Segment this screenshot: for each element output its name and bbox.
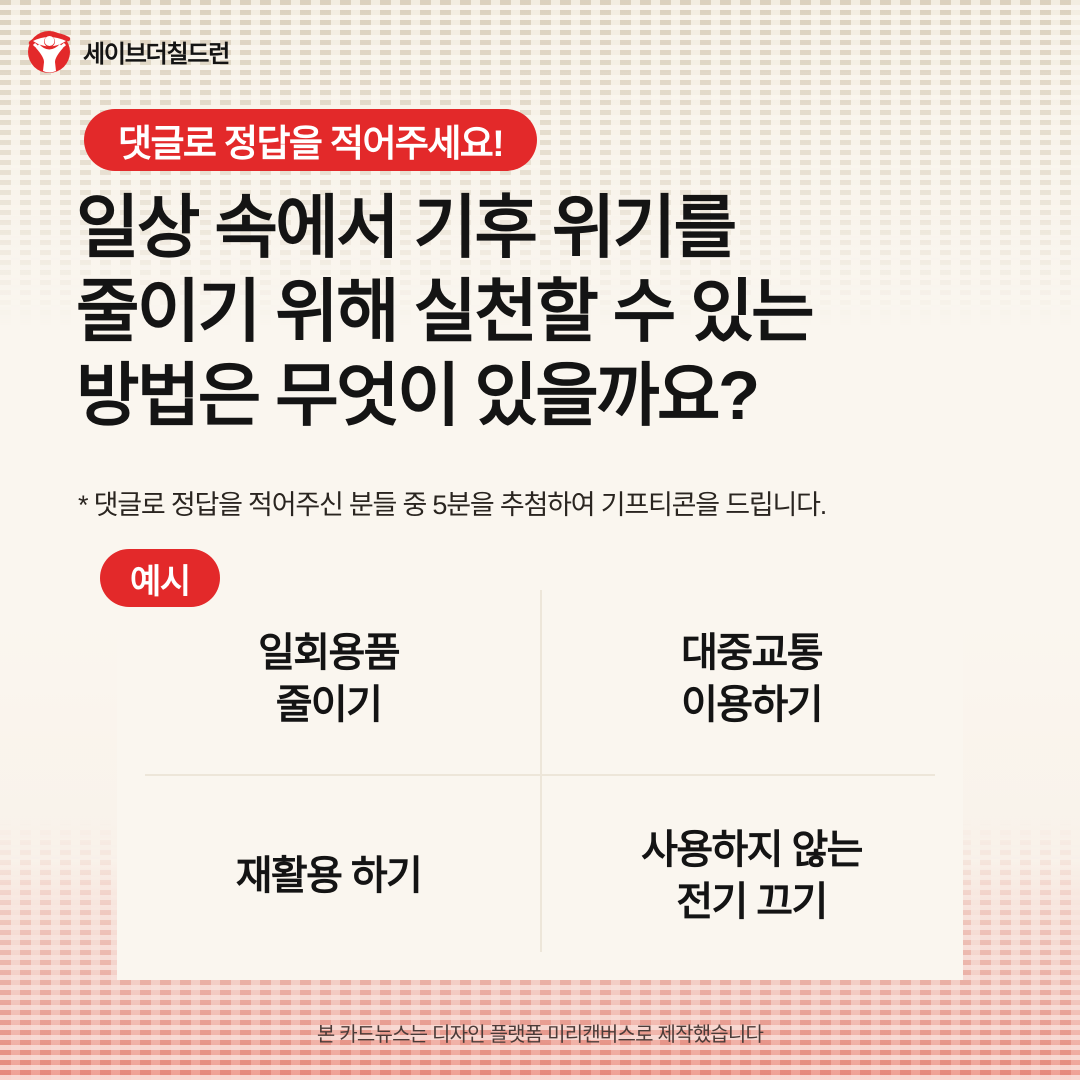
example-cell-public-transit: 대중교통 이용하기 bbox=[540, 562, 963, 771]
brand-name: 세이브더칠드런 bbox=[83, 34, 229, 69]
comment-prompt-label: 댓글로 정답을 적어주세요! bbox=[118, 113, 503, 167]
example-cell-3-line-1: 사용하지 않는 bbox=[641, 824, 862, 876]
example-cell-1-line-1: 대중교통 bbox=[681, 627, 822, 679]
example-cell-3-line-2: 전기 끄기 bbox=[641, 876, 862, 928]
example-answers-card: 일회용품 줄이기 대중교통 이용하기 재활용 하기 사용하지 않는 전기 끄기 bbox=[117, 562, 963, 980]
headline-line-2: 줄이기 위해 실천할 수 있는 bbox=[76, 270, 812, 354]
grid-divider-vertical bbox=[540, 590, 542, 952]
brand-logo: 세이브더칠드런 bbox=[24, 26, 229, 76]
giveaway-note: * 댓글로 정답을 적어주신 분들 중 5분을 추첨하여 기프티콘을 드립니다. bbox=[78, 483, 826, 522]
example-cell-0-line-2: 줄이기 bbox=[258, 679, 399, 731]
headline-line-1: 일상 속에서 기후 위기를 bbox=[76, 186, 812, 270]
example-cell-1-line-2: 이용하기 bbox=[681, 679, 822, 731]
grid-divider-horizontal bbox=[145, 774, 935, 776]
footer-credit: 본 카드뉴스는 디자인 플랫폼 미리캔버스로 제작했습니다 bbox=[0, 1018, 1080, 1047]
example-cell-turn-off-electricity: 사용하지 않는 전기 끄기 bbox=[540, 771, 963, 980]
example-badge: 예시 bbox=[100, 549, 220, 607]
example-cell-2-line-1: 재활용 하기 bbox=[236, 850, 422, 902]
page-title: 일상 속에서 기후 위기를 줄이기 위해 실천할 수 있는 방법은 무엇이 있을… bbox=[76, 186, 812, 438]
headline-line-3: 방법은 무엇이 있을까요? bbox=[76, 354, 812, 438]
example-cell-0-line-1: 일회용품 bbox=[258, 627, 399, 679]
example-badge-label: 예시 bbox=[130, 554, 190, 603]
example-cell-recycling: 재활용 하기 bbox=[117, 771, 540, 980]
save-the-children-logo-icon bbox=[24, 26, 74, 76]
comment-prompt-badge: 댓글로 정답을 적어주세요! bbox=[84, 109, 537, 171]
card-news-canvas: 세이브더칠드런 댓글로 정답을 적어주세요! 일상 속에서 기후 위기를 줄이기… bbox=[0, 0, 1080, 1080]
